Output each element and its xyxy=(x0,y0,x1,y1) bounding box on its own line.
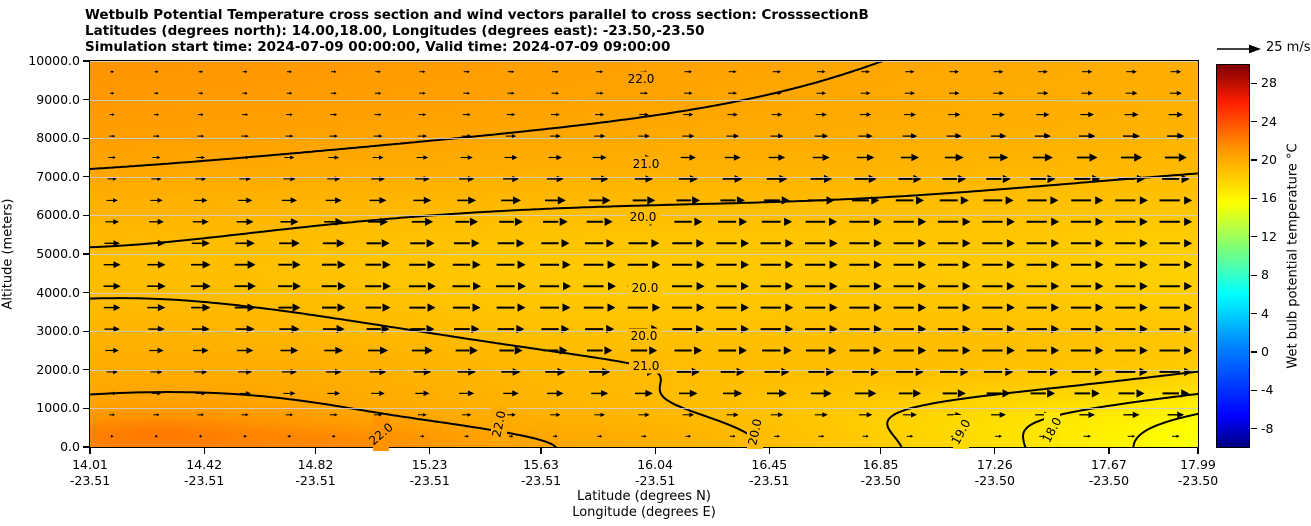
wind-vector-head xyxy=(918,218,926,226)
wind-vector-head xyxy=(467,435,469,438)
y-tick-label: 0.0 xyxy=(60,441,80,454)
contour-line xyxy=(90,392,556,447)
wind-vector-head xyxy=(1184,303,1192,311)
wind-vector-head xyxy=(1051,303,1059,311)
x-tick-label-longitude: -23.51 xyxy=(749,473,789,488)
wind-vector-head xyxy=(1140,303,1148,311)
wind-vector-head xyxy=(1184,239,1192,247)
wind-vector-head xyxy=(963,282,971,290)
wind-vector-head xyxy=(733,435,735,438)
gridline-y xyxy=(90,254,1198,255)
quiver-key-label: 25 m/s xyxy=(1266,40,1311,56)
wind-vector-head xyxy=(201,113,203,116)
x-tick-label-longitude: -23.51 xyxy=(409,473,449,488)
title-line-2: Latitudes (degrees north): 14.00,18.00, … xyxy=(85,23,1195,39)
wind-vector-head xyxy=(600,113,604,117)
wind-vector-head xyxy=(201,70,203,73)
wind-vector-head xyxy=(425,346,433,354)
wind-vector-head xyxy=(866,70,870,74)
wind-vector-head xyxy=(874,261,882,269)
gridline-y xyxy=(90,138,1198,139)
wind-vector-head xyxy=(867,412,873,417)
wind-vector-head xyxy=(290,113,293,116)
wind-vector-head xyxy=(1090,153,1098,161)
wind-vector-head xyxy=(778,113,783,117)
wind-vector-head xyxy=(158,198,163,203)
wind-vector-head xyxy=(379,113,382,116)
x-tick-mark xyxy=(769,448,770,454)
wind-vector-head xyxy=(423,70,425,73)
colorbar-label: Wet bulb potential temperature °C xyxy=(1286,143,1301,368)
wind-vector-head xyxy=(468,413,472,417)
wind-vector-head xyxy=(694,218,702,226)
wind-vector-head xyxy=(955,91,959,95)
wind-vector-head xyxy=(563,261,571,269)
wind-vector-head xyxy=(741,261,749,269)
wind-vector-head xyxy=(689,92,693,95)
wind-vector-head xyxy=(784,218,792,226)
wind-vector-head xyxy=(1177,91,1182,96)
wind-vector-head xyxy=(733,70,736,73)
wind-vector-head xyxy=(1051,346,1059,354)
wind-vector-head xyxy=(830,261,838,269)
wind-vector-head xyxy=(958,389,966,397)
wind-vector-head xyxy=(293,303,301,311)
wind-vector-head xyxy=(245,92,247,95)
wind-vector-head xyxy=(867,112,872,117)
wind-vector-head xyxy=(874,346,882,354)
wind-vector-head xyxy=(556,413,560,417)
colorbar-tick-mark xyxy=(1251,313,1257,314)
wind-vector-head xyxy=(378,70,380,73)
wind-vector-head xyxy=(248,303,256,311)
wind-vector-head xyxy=(963,346,971,354)
wind-vector-head xyxy=(473,261,481,269)
y-tick-label: 1000.0 xyxy=(36,402,80,415)
wind-vector-head xyxy=(114,283,121,290)
wind-vector-head xyxy=(334,92,337,95)
wind-vector-head xyxy=(645,390,653,397)
wind-vector-head xyxy=(512,70,515,73)
wind-vector-head xyxy=(290,92,292,95)
wind-vector-head xyxy=(1096,261,1104,269)
wind-vector-head xyxy=(918,239,926,247)
colorbar-tick-mark xyxy=(1251,236,1257,237)
y-tick-label: 7000.0 xyxy=(36,171,80,184)
wind-vector-head xyxy=(202,219,209,225)
colorbar-tick-mark xyxy=(1251,428,1257,429)
wind-vector-head xyxy=(556,70,559,73)
wind-vector-head xyxy=(158,304,166,311)
wind-vector-head xyxy=(383,303,391,311)
wind-vector-head xyxy=(1006,196,1014,204)
wind-vector-head xyxy=(556,113,560,117)
x-tick-label-longitude: -23.50 xyxy=(860,473,900,488)
wind-vector-head xyxy=(1096,239,1104,247)
y-tick-mark xyxy=(83,408,89,409)
wind-vector-head xyxy=(112,70,114,73)
figure-title: Wetbulb Potential Temperature cross sect… xyxy=(85,7,1195,56)
colorbar[interactable] xyxy=(1216,64,1250,448)
x-tick-label-longitude: -23.50 xyxy=(1178,473,1218,488)
x-tick-mark xyxy=(655,448,656,454)
colorbar-tick-label: 16 xyxy=(1261,192,1277,205)
wind-vector-head xyxy=(424,197,432,204)
wind-vector-head xyxy=(608,282,616,290)
wind-vector-head xyxy=(245,70,247,73)
title-line-1: Wetbulb Potential Temperature cross sect… xyxy=(85,7,1195,23)
y-tick-label: 4000.0 xyxy=(36,286,80,299)
wind-vector-head xyxy=(741,303,749,311)
x-tick-label-latitude: 16.85 xyxy=(863,457,899,472)
wind-vector-head xyxy=(1140,239,1148,247)
wind-vector-head xyxy=(694,346,702,354)
wind-vector-head xyxy=(779,389,787,397)
wind-vector-head xyxy=(963,303,971,311)
wind-vector-head xyxy=(518,282,526,290)
wind-vector-head xyxy=(697,282,705,290)
wind-vector-head xyxy=(112,92,114,95)
wind-vector-head xyxy=(111,435,113,438)
wind-vector-head xyxy=(918,282,926,290)
wind-vector-head xyxy=(1133,112,1139,118)
wind-vector-head xyxy=(784,346,792,354)
wind-vector-head xyxy=(247,347,254,354)
wind-vector-head xyxy=(911,70,915,74)
wind-vector-head xyxy=(866,435,869,438)
x-tick-label-latitude: 16.45 xyxy=(751,457,787,472)
cross-section-plot[interactable] xyxy=(89,60,1199,448)
x-tick-mark xyxy=(994,448,995,454)
wind-vector-head xyxy=(696,239,704,247)
wind-vector-head xyxy=(202,240,210,247)
y-tick-mark xyxy=(83,292,89,293)
wind-vector-head xyxy=(428,282,436,290)
wind-vector-head xyxy=(600,92,603,95)
wind-vector-head xyxy=(337,239,345,247)
wind-vector-head xyxy=(158,348,164,354)
wind-vector-head xyxy=(333,435,335,438)
wind-vector-head xyxy=(290,70,292,73)
wind-vector-head xyxy=(1095,196,1103,204)
wind-vector-head xyxy=(601,390,608,397)
wind-vector-head xyxy=(600,435,602,438)
wind-vector-head xyxy=(605,218,613,226)
wind-vector-head xyxy=(822,70,826,73)
wind-vector-head xyxy=(290,391,295,396)
wind-vector-head xyxy=(556,92,559,95)
wind-vector-head xyxy=(156,70,158,73)
wind-vector-head xyxy=(1088,91,1093,96)
colorbar-tick-mark xyxy=(1251,83,1257,84)
wind-vector-head xyxy=(334,413,337,416)
wind-vector-head xyxy=(822,435,825,438)
wind-vector-head xyxy=(113,135,116,138)
x-axis-label-latitude: Latitude (degrees N) xyxy=(577,489,711,504)
wind-vector-head xyxy=(512,113,516,116)
wind-vector-head xyxy=(911,154,919,161)
wind-vector-head xyxy=(999,435,1002,438)
wind-vector-head xyxy=(1184,261,1192,269)
x-tick-label-longitude: -23.51 xyxy=(295,473,335,488)
wind-vector-head xyxy=(1051,261,1059,269)
wind-vector-head xyxy=(334,113,337,116)
colorbar-tick-label: 8 xyxy=(1261,269,1269,282)
wind-vector-head xyxy=(335,155,339,159)
x-tick-label-latitude: 14.82 xyxy=(298,457,334,472)
wind-vector-head xyxy=(423,155,428,160)
wind-vector-head xyxy=(956,154,964,162)
wind-vector-head xyxy=(963,218,971,226)
wind-vector-head xyxy=(1047,389,1055,397)
wind-vector-head xyxy=(157,413,160,416)
wind-vector-head xyxy=(916,196,924,204)
wind-vector-head xyxy=(1044,70,1048,74)
wind-vector-head xyxy=(467,113,470,116)
colorbar-tick-mark xyxy=(1251,198,1257,199)
wind-vector-head xyxy=(156,92,158,95)
wind-vector-head xyxy=(822,112,827,116)
wind-vector-head xyxy=(1051,282,1059,290)
wind-vector-head xyxy=(113,156,116,159)
wind-vector-head xyxy=(335,218,343,226)
wind-vector-head xyxy=(1184,346,1192,354)
wind-vector-head xyxy=(563,282,571,290)
wind-vector-head xyxy=(423,113,426,116)
colorbar-tick-mark xyxy=(1251,275,1257,276)
colorbar-tick-mark xyxy=(1251,121,1257,122)
wind-vector-head xyxy=(248,261,256,269)
wind-vector-head xyxy=(335,347,343,355)
wind-vector-head xyxy=(291,218,299,225)
x-tick-label-latitude: 16.04 xyxy=(637,457,673,472)
wind-vector-head xyxy=(1184,282,1192,290)
gridline-y xyxy=(90,100,1198,101)
wind-vector-head xyxy=(651,239,659,247)
x-tick-mark xyxy=(429,448,430,454)
wind-vector-head xyxy=(649,346,657,354)
wind-vector-head xyxy=(868,389,876,397)
wind-vector-head xyxy=(1000,154,1008,162)
y-tick-mark xyxy=(83,60,89,61)
wind-vector-head xyxy=(158,282,166,290)
x-tick-label-longitude: -23.50 xyxy=(975,473,1015,488)
wind-vector-head xyxy=(734,113,738,117)
wind-vector-head xyxy=(467,92,470,95)
y-tick-mark xyxy=(83,253,89,254)
y-tick-mark xyxy=(83,331,89,332)
wind-vector-head xyxy=(1140,346,1148,354)
wind-vector-head xyxy=(513,196,521,204)
wind-vector-head xyxy=(1096,303,1104,311)
wind-vector-head xyxy=(428,261,436,269)
wind-vector-head xyxy=(1003,389,1011,397)
wind-vector-head xyxy=(689,70,692,73)
wind-vector-head xyxy=(734,390,742,398)
wind-vector-head xyxy=(734,154,741,160)
wind-vector-head xyxy=(157,113,159,116)
wind-vector-head xyxy=(203,261,211,269)
wind-vector-head xyxy=(961,196,969,204)
wind-vector-head xyxy=(560,218,568,226)
wind-vector-head xyxy=(338,261,346,269)
wind-vector-head xyxy=(202,347,209,353)
contour-label: 20.0 xyxy=(630,211,657,223)
y-tick-label: 9000.0 xyxy=(36,93,80,106)
wind-vector-head xyxy=(741,282,749,290)
x-tick-label-longitude: -23.51 xyxy=(521,473,561,488)
colorbar-tick-label: 28 xyxy=(1261,77,1277,90)
wind-vector-head xyxy=(292,239,300,247)
wind-vector-head xyxy=(423,413,427,417)
wind-vector-head xyxy=(201,135,204,138)
wind-vector-head xyxy=(733,91,737,95)
wind-vector-head xyxy=(473,282,481,290)
x-tick-mark xyxy=(880,448,881,454)
wind-vector-head xyxy=(911,112,916,117)
wind-vector-head xyxy=(290,156,294,160)
wind-vector-head xyxy=(203,282,211,290)
contour-label: 20.0 xyxy=(631,330,658,342)
wind-vector-head xyxy=(425,218,433,226)
wind-vector-head xyxy=(1134,153,1142,161)
colorbar-tick-label: 4 xyxy=(1261,307,1269,320)
x-tick-mark xyxy=(540,448,541,454)
wind-vector-head xyxy=(517,239,525,247)
title-line-3: Simulation start time: 2024-07-09 00:00:… xyxy=(85,39,1195,55)
wind-vector-head xyxy=(689,113,693,117)
wind-vector-head xyxy=(291,347,298,354)
wind-vector-head xyxy=(158,261,166,268)
wind-vector-head xyxy=(563,303,571,311)
wind-vector-head xyxy=(157,135,160,138)
wind-vector-head xyxy=(246,135,249,138)
wind-vector-head xyxy=(1007,218,1015,226)
x-tick-label-longitude: -23.51 xyxy=(70,473,110,488)
wind-vector-head xyxy=(652,303,660,311)
wind-vector-head xyxy=(1096,282,1104,290)
wind-vector-head xyxy=(428,303,436,311)
wind-vector-head xyxy=(335,391,340,396)
wind-vector-head xyxy=(600,70,603,73)
arrow-right-icon xyxy=(1216,42,1262,56)
contour-label: 20.0 xyxy=(632,282,659,294)
wind-vector-head xyxy=(382,239,390,247)
wind-vector-head xyxy=(1092,389,1100,397)
wind-vector-head xyxy=(689,435,691,438)
wind-vector-head xyxy=(739,346,747,354)
wind-vector-head xyxy=(1045,154,1053,162)
wind-vector-head xyxy=(112,113,114,116)
wind-vector-head xyxy=(1007,261,1015,269)
wind-vector-head xyxy=(955,70,959,74)
wind-vector-head xyxy=(1177,70,1182,74)
wind-vector-head xyxy=(1044,91,1049,96)
contour-label: 21.0 xyxy=(633,360,660,372)
wind-vector-head xyxy=(1184,196,1192,204)
wind-vector-head xyxy=(472,239,480,247)
wind-vector-head xyxy=(557,390,564,397)
wind-vector-head xyxy=(1044,112,1050,117)
wind-vector-head xyxy=(470,218,478,226)
wind-vector-head xyxy=(874,218,882,226)
x-tick-mark xyxy=(1197,448,1198,454)
y-tick-label: 5000.0 xyxy=(36,248,80,261)
wind-vector-head xyxy=(601,413,606,417)
wind-vector-head xyxy=(652,261,660,269)
wind-vector-head xyxy=(911,91,915,95)
wind-vector-head xyxy=(777,435,780,438)
y-tick-mark xyxy=(83,446,89,447)
x-tick-mark xyxy=(204,448,205,454)
x-axis-label-longitude: Longitude (degrees E) xyxy=(572,505,716,520)
contour-line xyxy=(90,61,883,169)
wind-vector-head xyxy=(829,218,837,226)
wind-vector-head xyxy=(608,303,616,311)
wind-vector-head xyxy=(158,240,165,247)
colorbar-tick-mark xyxy=(1251,351,1257,352)
wind-vector-head xyxy=(338,303,346,311)
wind-vector-head xyxy=(606,239,614,247)
wind-vector-head xyxy=(874,303,882,311)
wind-vector-head xyxy=(911,412,917,418)
wind-vector-head xyxy=(518,303,526,311)
y-tick-label: 3000.0 xyxy=(36,325,80,338)
wind-vector-head xyxy=(290,135,293,138)
wind-vector-head xyxy=(203,304,211,312)
y-tick-mark xyxy=(83,369,89,370)
wind-vector-head xyxy=(248,282,256,290)
wind-vector-head xyxy=(246,198,252,204)
wind-vector-head xyxy=(963,239,971,247)
wind-vector-head xyxy=(379,155,384,159)
x-tick-label-latitude: 17.26 xyxy=(977,457,1013,472)
wind-vector-head xyxy=(785,239,793,247)
y-tick-mark xyxy=(83,138,89,139)
wind-vector-head xyxy=(1133,91,1138,96)
wind-vector-head xyxy=(1007,346,1015,354)
wind-vector-head xyxy=(866,91,870,95)
wind-vector-head xyxy=(201,413,204,416)
y-tick-mark xyxy=(83,99,89,100)
wind-vector-head xyxy=(202,156,206,159)
y-tick-label: 10000.0 xyxy=(28,55,80,68)
wind-vector-head xyxy=(1096,218,1104,226)
wind-vector-head xyxy=(1140,218,1148,226)
wind-vector-head xyxy=(518,261,526,269)
gridline-y xyxy=(90,408,1198,409)
wind-vector-head xyxy=(379,92,382,95)
wind-vector-head xyxy=(829,346,837,354)
y-tick-mark xyxy=(83,215,89,216)
wind-vector-head xyxy=(247,218,254,225)
wind-vector-head xyxy=(202,198,208,203)
wind-vector-head xyxy=(379,391,385,396)
wind-vector-head xyxy=(113,198,118,203)
wind-vector-head xyxy=(782,196,790,204)
wind-vector-head xyxy=(511,435,513,438)
wind-vector-head xyxy=(1132,435,1135,438)
wind-vector-head xyxy=(824,389,832,397)
x-tick-label-longitude: -23.51 xyxy=(635,473,675,488)
wind-vector-head xyxy=(1007,303,1015,311)
wind-vector-head xyxy=(1132,70,1136,74)
wind-vector-head xyxy=(114,261,121,268)
colorbar-tick-label: -8 xyxy=(1261,423,1273,436)
x-tick-mark xyxy=(89,448,90,454)
x-tick-mark xyxy=(1108,448,1109,454)
wind-vector-head xyxy=(427,239,435,247)
